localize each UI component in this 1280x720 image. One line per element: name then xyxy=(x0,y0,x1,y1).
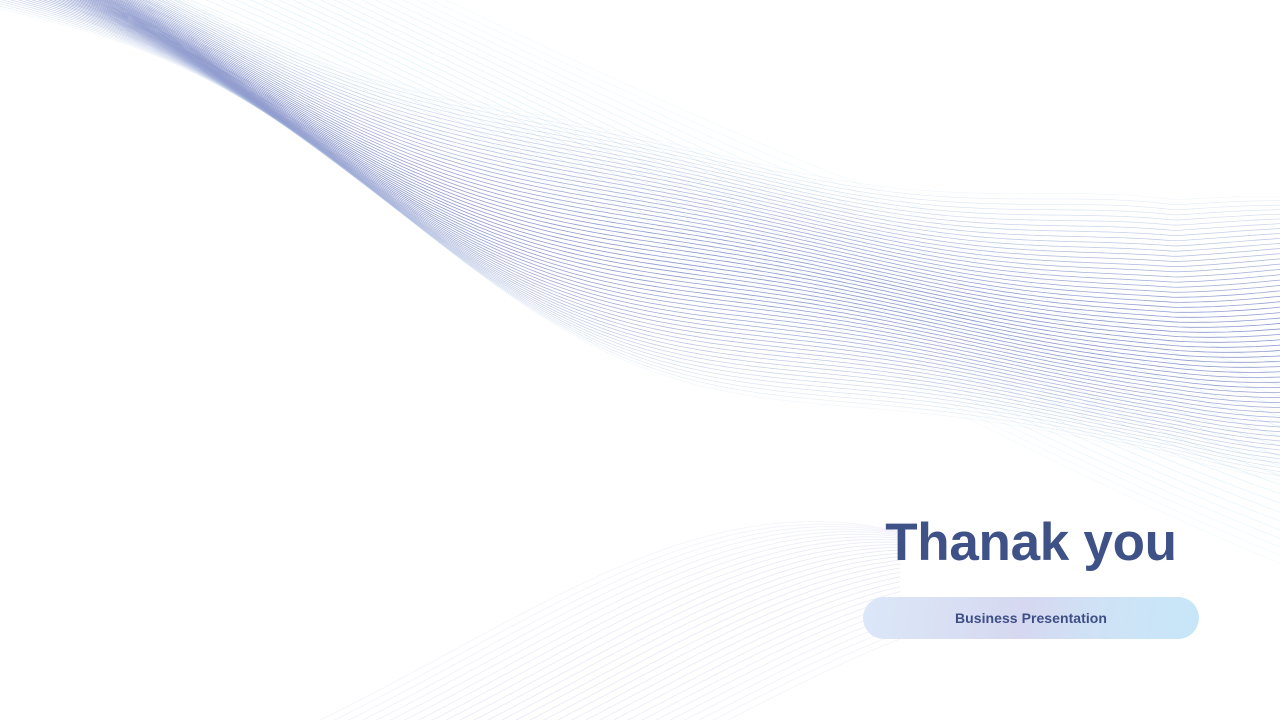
slide-canvas: Thanak you Business Presentation xyxy=(0,0,1280,720)
page-title: Thanak you xyxy=(863,515,1199,571)
status-badge[interactable]: Business Presentation xyxy=(863,597,1199,639)
closing-content-block: Thanak you Business Presentation xyxy=(863,515,1199,639)
status-badge-label: Business Presentation xyxy=(955,610,1107,626)
